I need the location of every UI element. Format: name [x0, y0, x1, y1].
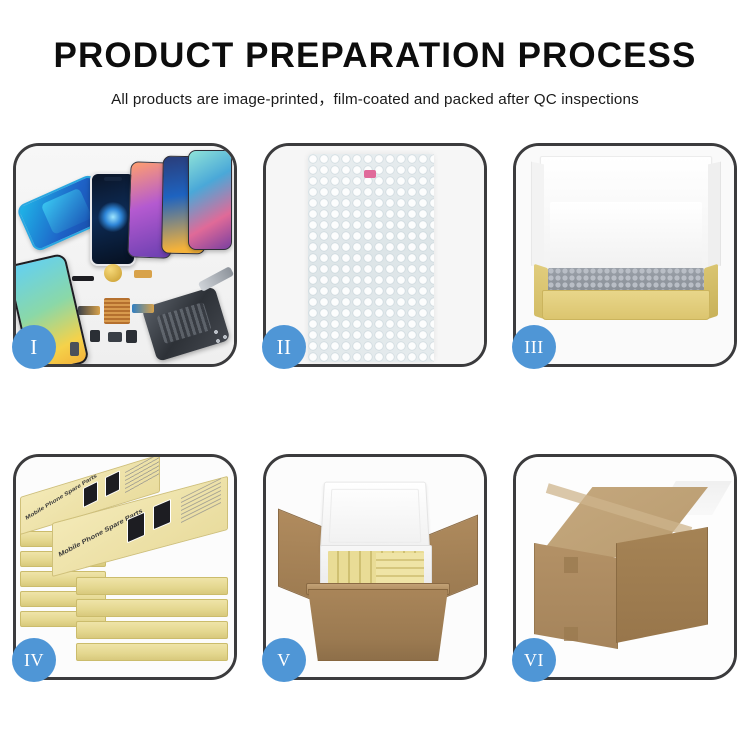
flex-cable-2: [78, 306, 100, 315]
white-foam-sheet: [550, 202, 702, 274]
screws-cluster: [212, 328, 230, 344]
carton-right-face: [616, 527, 708, 643]
small-part-4: [70, 342, 79, 356]
box-print-screen-b-back: [105, 470, 120, 497]
step-badge-4: IV: [12, 638, 56, 682]
product-preparation-infographic: PRODUCT PREPARATION PROCESS All products…: [0, 0, 750, 750]
flex-cable-1: [134, 270, 152, 278]
page-title: PRODUCT PREPARATION PROCESS: [0, 38, 750, 75]
tray-front-panel: [542, 290, 710, 320]
screwdriver-tool: [198, 266, 234, 292]
stacked-box-fr-4: [76, 643, 228, 661]
step-badge-6: VI: [512, 638, 556, 682]
process-step-grid: I II: [13, 143, 737, 683]
step-badge-3: III: [512, 325, 556, 369]
phone-teal-display: [188, 150, 232, 250]
logic-board-chip: [104, 298, 130, 324]
step-panel-1: I: [13, 143, 237, 367]
bubble-wrap-bag: [308, 154, 434, 362]
carton-tape-lower: [564, 627, 578, 641]
step-panel-4: Mobile Phone Spare Parts Mobile Phone Sp…: [13, 454, 237, 680]
carton-front-wall: [308, 589, 448, 661]
small-part-2: [108, 332, 122, 342]
page-subtitle: All products are image-printed，film-coat…: [0, 87, 750, 109]
step-badge-1: I: [12, 325, 56, 369]
step-panel-3: III: [513, 143, 737, 367]
box-print-screen-b-front: [153, 499, 171, 531]
header: PRODUCT PREPARATION PROCESS All products…: [0, 0, 750, 109]
step-panel-2: II: [263, 143, 487, 367]
earpiece-speaker: [72, 276, 94, 281]
step-badge-5: V: [262, 638, 306, 682]
stacked-box-fr-1: [76, 577, 228, 595]
stacked-box-fr-2: [76, 599, 228, 617]
step-badge-2: II: [262, 325, 306, 369]
vibration-motor: [104, 264, 122, 282]
stacked-box-fr-3: [76, 621, 228, 639]
step-panel-6: VI: [513, 454, 737, 680]
step-panel-5: V: [263, 454, 487, 680]
box-print-spec-lines-front: [181, 478, 221, 524]
box-print-spec-lines-back: [125, 457, 159, 494]
carton-tape-upper: [564, 557, 578, 573]
flex-cable-3: [132, 304, 154, 313]
small-part-3: [126, 330, 137, 343]
foam-lid: [320, 482, 430, 551]
phone-back-housing: [141, 286, 230, 362]
small-part-1: [90, 330, 100, 342]
pink-seal-sticker: [364, 170, 376, 178]
